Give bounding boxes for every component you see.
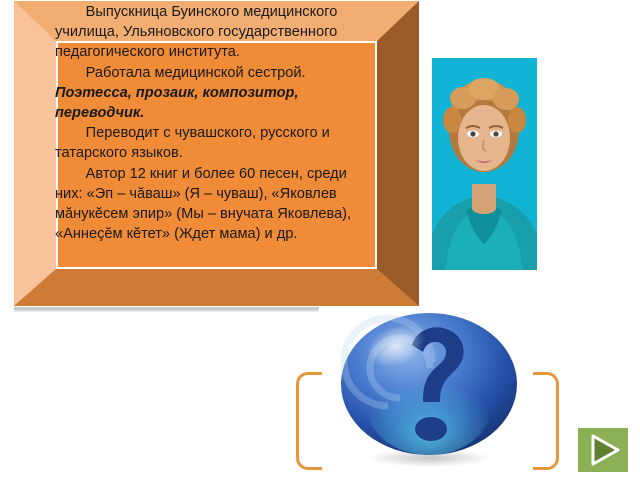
biography-text: Выпускница Буинского медицинского училищ… [55, 2, 365, 244]
next-slide-button[interactable] [578, 428, 628, 472]
bracket-right-icon [533, 372, 559, 470]
slide-canvas: Выпускница Буинского медицинского училищ… [0, 0, 640, 480]
biography-paragraph-2: Работала медицинской сестрой. [55, 63, 365, 83]
horizontal-rule-secondary [14, 311, 319, 312]
question-mark-sphere[interactable] [338, 312, 521, 467]
question-mark-sphere-icon [338, 312, 521, 467]
play-triangle-icon [578, 428, 628, 472]
biography-paragraph-3: Поэтесса, прозаик, композитор, переводчи… [55, 83, 365, 123]
biography-paragraph-5: Автор 12 книг и более 60 песен, среди ни… [55, 164, 365, 245]
biography-paragraph-4: Переводит с чувашского, русского и татар… [55, 123, 365, 163]
portrait-photo [432, 58, 537, 270]
portrait-illustration [432, 58, 537, 270]
question-graphic-group [285, 302, 570, 480]
biography-paragraph-1: Выпускница Буинского медицинского училищ… [55, 2, 365, 63]
bracket-left-icon [296, 372, 322, 470]
